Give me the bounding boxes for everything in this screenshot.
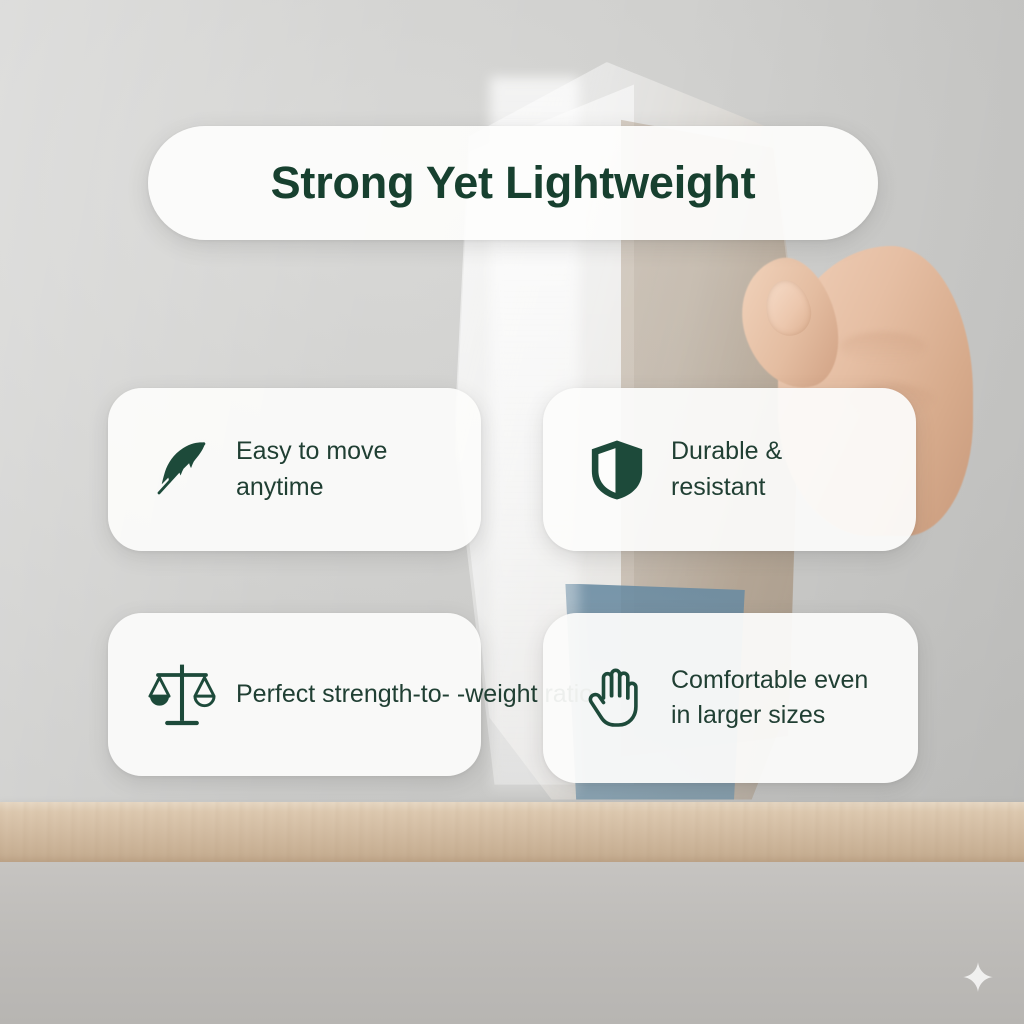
- page-title: Strong Yet Lightweight: [271, 157, 756, 209]
- feature-card-strength-to-weight[interactable]: Perfect strength-to- -weight ratio: [108, 613, 481, 776]
- feature-card-durable[interactable]: Durable & resistant: [543, 388, 916, 551]
- sparkle-icon: [961, 961, 995, 995]
- hero-title-pill: Strong Yet Lightweight: [148, 126, 878, 240]
- shield-icon: [579, 432, 655, 508]
- feature-label: Easy to move anytime: [236, 434, 387, 505]
- hand-knuckle: [840, 332, 926, 362]
- feature-label: Perfect strength-to- -weight ratio: [236, 677, 593, 713]
- wood-grain: [0, 802, 1024, 864]
- feature-card-easy-to-move[interactable]: Easy to move anytime: [108, 388, 481, 551]
- feather-icon: [144, 432, 220, 508]
- feature-card-comfortable[interactable]: Comfortable even in larger sizes: [543, 613, 918, 783]
- hand-icon: [579, 660, 655, 736]
- wooden-shelf: [0, 802, 1024, 864]
- feature-label: Durable & resistant: [671, 434, 782, 505]
- balance-scale-icon: [144, 657, 220, 733]
- infographic-canvas: Strong Yet Lightweight Easy to handle · …: [0, 0, 1024, 1024]
- feature-label: Comfortable even in larger sizes: [671, 663, 868, 734]
- floor-surface: [0, 862, 1024, 1024]
